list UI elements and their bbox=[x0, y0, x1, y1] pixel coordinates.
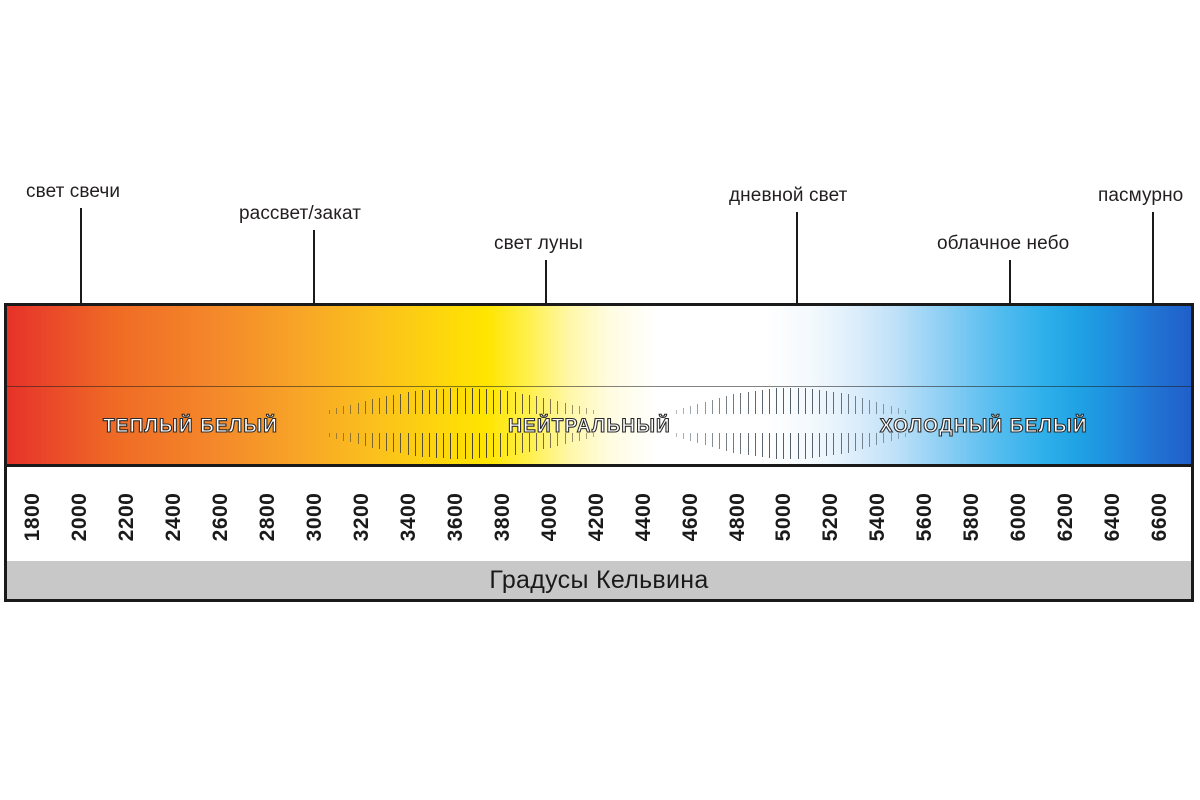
scale-tick-mark bbox=[798, 388, 799, 414]
scale-tick-mark bbox=[826, 391, 827, 414]
scale-tick-mark bbox=[848, 394, 849, 414]
scale-tick-label: 4600 bbox=[679, 493, 703, 542]
scale-tick-mark bbox=[676, 410, 677, 414]
scale-tick-mark bbox=[336, 433, 337, 439]
scale-tick-mark bbox=[400, 394, 401, 415]
scale-tick-mark bbox=[536, 396, 537, 414]
scale-tick-mark bbox=[783, 388, 784, 414]
band-label-2: ХОЛОДНЫЙ БЕЛЫЙ bbox=[880, 416, 1088, 438]
scale-tick-label: 5800 bbox=[960, 493, 984, 542]
tick-cluster-cool-top bbox=[676, 387, 907, 414]
scale-tick-mark bbox=[762, 390, 763, 414]
scale-tick-mark bbox=[579, 406, 580, 414]
scale-tick-label: 3000 bbox=[303, 493, 327, 542]
scale-tick-mark bbox=[379, 398, 380, 414]
scale-tick-mark bbox=[869, 400, 870, 414]
scale-tick-label: 5000 bbox=[772, 493, 796, 542]
scale-tick-mark bbox=[726, 396, 727, 414]
scale-tick-mark bbox=[905, 410, 906, 414]
scale-tick-mark bbox=[833, 433, 834, 455]
scale-tick-mark bbox=[586, 408, 587, 414]
scale-tick-mark bbox=[529, 395, 530, 414]
scale-tick-label: 2800 bbox=[256, 493, 280, 542]
chart-panel: ТЕПЛЫЙ БЕЛЫЙНЕЙТРАЛЬНЫЙХОЛОДНЫЙ БЕЛЫЙ 18… bbox=[4, 303, 1194, 602]
scale-tick-mark bbox=[515, 392, 516, 414]
scale-tick-mark bbox=[465, 388, 466, 414]
band-label-0: ТЕПЛЫЙ БЕЛЫЙ bbox=[103, 416, 278, 438]
scale-tick-mark bbox=[336, 408, 337, 414]
scale-tick-mark bbox=[805, 388, 806, 414]
scale-tick-mark bbox=[740, 393, 741, 414]
scale-tick-label: 4200 bbox=[585, 493, 609, 542]
scale-tick-mark bbox=[690, 406, 691, 414]
callout-label-5: пасмурно bbox=[1098, 186, 1183, 205]
scale-tick-mark bbox=[855, 396, 856, 414]
scale-tick-mark bbox=[500, 433, 501, 457]
tick-cluster-warm-top bbox=[329, 387, 595, 414]
scale-tick-mark bbox=[350, 433, 351, 443]
scale-tick-label: 6200 bbox=[1054, 493, 1078, 542]
scale-tick-label: 6400 bbox=[1101, 493, 1125, 542]
scale-tick-label: 6600 bbox=[1148, 493, 1172, 542]
scale-tick-mark bbox=[855, 433, 856, 451]
scale-tick-mark bbox=[676, 433, 677, 437]
scale-tick-mark bbox=[429, 433, 430, 457]
scale-tick-mark bbox=[862, 433, 863, 449]
scale-tick-mark bbox=[572, 405, 573, 415]
scale-tick-mark bbox=[733, 394, 734, 414]
scale-tick-mark bbox=[493, 390, 494, 414]
scale-tick-mark bbox=[883, 404, 884, 414]
scale-tick-mark bbox=[790, 433, 791, 459]
scale-tick-mark bbox=[350, 405, 351, 415]
scale-tick-label: 2200 bbox=[115, 493, 139, 542]
scale-tick-mark bbox=[550, 399, 551, 414]
callout-label-1: рассвет/закат bbox=[239, 204, 361, 223]
scale-tick-label: 2000 bbox=[68, 493, 92, 542]
scale-tick-mark bbox=[776, 388, 777, 414]
scale-tick-mark bbox=[457, 433, 458, 459]
scale-tick-mark bbox=[726, 433, 727, 451]
band-label-1: НЕЙТРАЛЬНЫЙ bbox=[508, 416, 671, 438]
scale-tick-mark bbox=[386, 433, 387, 451]
scale-tick-mark bbox=[798, 433, 799, 459]
caption-bar: Градусы Кельвина bbox=[7, 561, 1191, 599]
scale-tick-mark bbox=[472, 433, 473, 459]
scale-tick-mark bbox=[812, 389, 813, 414]
scale-tick-label: 3200 bbox=[350, 493, 374, 542]
caption-label: Градусы Кельвина bbox=[489, 566, 708, 595]
scale-tick-mark bbox=[748, 433, 749, 455]
scale-tick-mark bbox=[343, 433, 344, 441]
scale-tick-mark bbox=[733, 433, 734, 453]
scale-tick-mark bbox=[422, 390, 423, 414]
scale-tick-mark bbox=[841, 393, 842, 414]
scale-tick-mark bbox=[705, 402, 706, 414]
scale-tick-mark bbox=[379, 433, 380, 449]
scale-tick-mark bbox=[372, 399, 373, 414]
scale-tick-mark bbox=[358, 433, 359, 444]
scale-tick-label: 1800 bbox=[21, 493, 45, 542]
tick-cluster-cool-bottom bbox=[676, 433, 907, 460]
scale-tick-mark bbox=[812, 433, 813, 458]
gradient-divider-line bbox=[7, 386, 1191, 387]
scale-tick-mark bbox=[543, 398, 544, 414]
scale-tick-mark bbox=[393, 433, 394, 452]
scale-tick-mark bbox=[393, 395, 394, 414]
scale-tick-mark bbox=[876, 402, 877, 414]
scale-tick-mark bbox=[740, 433, 741, 454]
scale-tick-mark bbox=[697, 433, 698, 443]
scale-tick-mark bbox=[769, 433, 770, 458]
scale-tick-label: 5200 bbox=[819, 493, 843, 542]
scale-tick-label: 5600 bbox=[913, 493, 937, 542]
scale-tick-mark bbox=[400, 433, 401, 454]
scale-tick-mark bbox=[848, 433, 849, 453]
scale-tick-mark bbox=[486, 389, 487, 414]
scale-tick-mark bbox=[565, 403, 566, 414]
callout-label-4: облачное небо bbox=[937, 234, 1069, 253]
scale-tick-mark bbox=[479, 433, 480, 459]
scale-tick-label: 2600 bbox=[209, 493, 233, 542]
scale-tick-label: 3600 bbox=[444, 493, 468, 542]
scale-tick-mark bbox=[705, 433, 706, 445]
scale-tick-mark bbox=[429, 390, 430, 414]
scale-tick-mark bbox=[712, 400, 713, 414]
scale-tick-mark bbox=[683, 408, 684, 414]
scale-tick-mark bbox=[755, 391, 756, 414]
scale-tick-mark bbox=[819, 390, 820, 414]
scale-tick-mark bbox=[422, 433, 423, 457]
scale-tick-mark bbox=[891, 406, 892, 414]
scale-tick-mark bbox=[365, 401, 366, 414]
scale-tick-mark bbox=[719, 398, 720, 414]
scale-tick-mark bbox=[712, 433, 713, 447]
scale-tick-mark bbox=[783, 433, 784, 459]
scale-tick-mark bbox=[329, 433, 330, 437]
scale-tick-label: 3400 bbox=[397, 493, 421, 542]
scale-tick-mark bbox=[443, 389, 444, 415]
scale-tick-mark bbox=[479, 389, 480, 415]
scale-tick-mark bbox=[507, 391, 508, 414]
scale-tick-mark bbox=[776, 433, 777, 459]
scale-tick-label: 2400 bbox=[162, 493, 186, 542]
scale-tick-mark bbox=[493, 433, 494, 457]
callout-label-3: дневной свет bbox=[729, 186, 847, 205]
scale-tick-mark bbox=[719, 433, 720, 449]
scale-tick-mark bbox=[358, 403, 359, 414]
scale-tick-mark bbox=[841, 433, 842, 454]
scale-tick-mark bbox=[690, 433, 691, 441]
scale-tick-mark bbox=[443, 433, 444, 459]
scale-tick-mark bbox=[898, 408, 899, 414]
scale-tick-mark bbox=[408, 392, 409, 414]
scale-tick-mark bbox=[436, 389, 437, 414]
scale-tick-mark bbox=[755, 433, 756, 456]
color-temperature-gradient: ТЕПЛЫЙ БЕЛЫЙНЕЙТРАЛЬНЫЙХОЛОДНЫЙ БЕЛЫЙ bbox=[7, 306, 1191, 464]
scale-tick-mark bbox=[819, 433, 820, 457]
scale-tick-mark bbox=[436, 433, 437, 458]
scale-tick-mark bbox=[500, 390, 501, 414]
scale-tick-mark bbox=[465, 433, 466, 459]
scale-tick-mark bbox=[833, 392, 834, 414]
scale-tick-mark bbox=[365, 433, 366, 446]
scale-tick-mark bbox=[386, 396, 387, 414]
scale-tick-mark bbox=[762, 433, 763, 457]
callout-label-0: свет свечи bbox=[26, 182, 120, 201]
scale-tick-mark bbox=[486, 433, 487, 458]
scale-tick-mark bbox=[805, 433, 806, 459]
scale-tick-mark bbox=[415, 433, 416, 456]
scale-tick-mark bbox=[329, 410, 330, 414]
scale-tick-mark bbox=[472, 388, 473, 414]
scale-tick-mark bbox=[408, 433, 409, 455]
scale-tick-label: 4000 bbox=[538, 493, 562, 542]
scale-tick-mark bbox=[415, 391, 416, 414]
scale-tick-mark bbox=[748, 392, 749, 414]
scale-tick-mark bbox=[683, 433, 684, 439]
scale-tick-mark bbox=[876, 433, 877, 445]
scale-tick-label: 4800 bbox=[726, 493, 750, 542]
scale-tick-mark bbox=[457, 388, 458, 414]
scale-tick-label: 4400 bbox=[632, 493, 656, 542]
scale-tick-label: 5400 bbox=[866, 493, 890, 542]
scale-tick-mark bbox=[343, 406, 344, 414]
scale-tick-mark bbox=[769, 389, 770, 414]
scale-tick-mark bbox=[450, 388, 451, 414]
scale-tick-label: 6000 bbox=[1007, 493, 1031, 542]
scale-tick-mark bbox=[697, 404, 698, 414]
scale-tick-mark bbox=[450, 433, 451, 459]
scale-tick-mark bbox=[869, 433, 870, 447]
scale-tick-mark bbox=[790, 388, 791, 414]
scale-tick-mark bbox=[826, 433, 827, 456]
scale-tick-label: 3800 bbox=[491, 493, 515, 542]
callout-label-2: свет луны bbox=[494, 234, 583, 253]
scale-tick-mark bbox=[593, 410, 594, 414]
color-temperature-chart: свет свечирассвет/закатсвет луныдневной … bbox=[0, 0, 1200, 800]
scale-tick-mark bbox=[522, 394, 523, 415]
scale-tick-mark bbox=[862, 398, 863, 414]
scale-tick-mark bbox=[372, 433, 373, 448]
kelvin-scale: 1800200022002400260028003000320034003600… bbox=[7, 464, 1191, 564]
scale-tick-mark bbox=[557, 401, 558, 414]
